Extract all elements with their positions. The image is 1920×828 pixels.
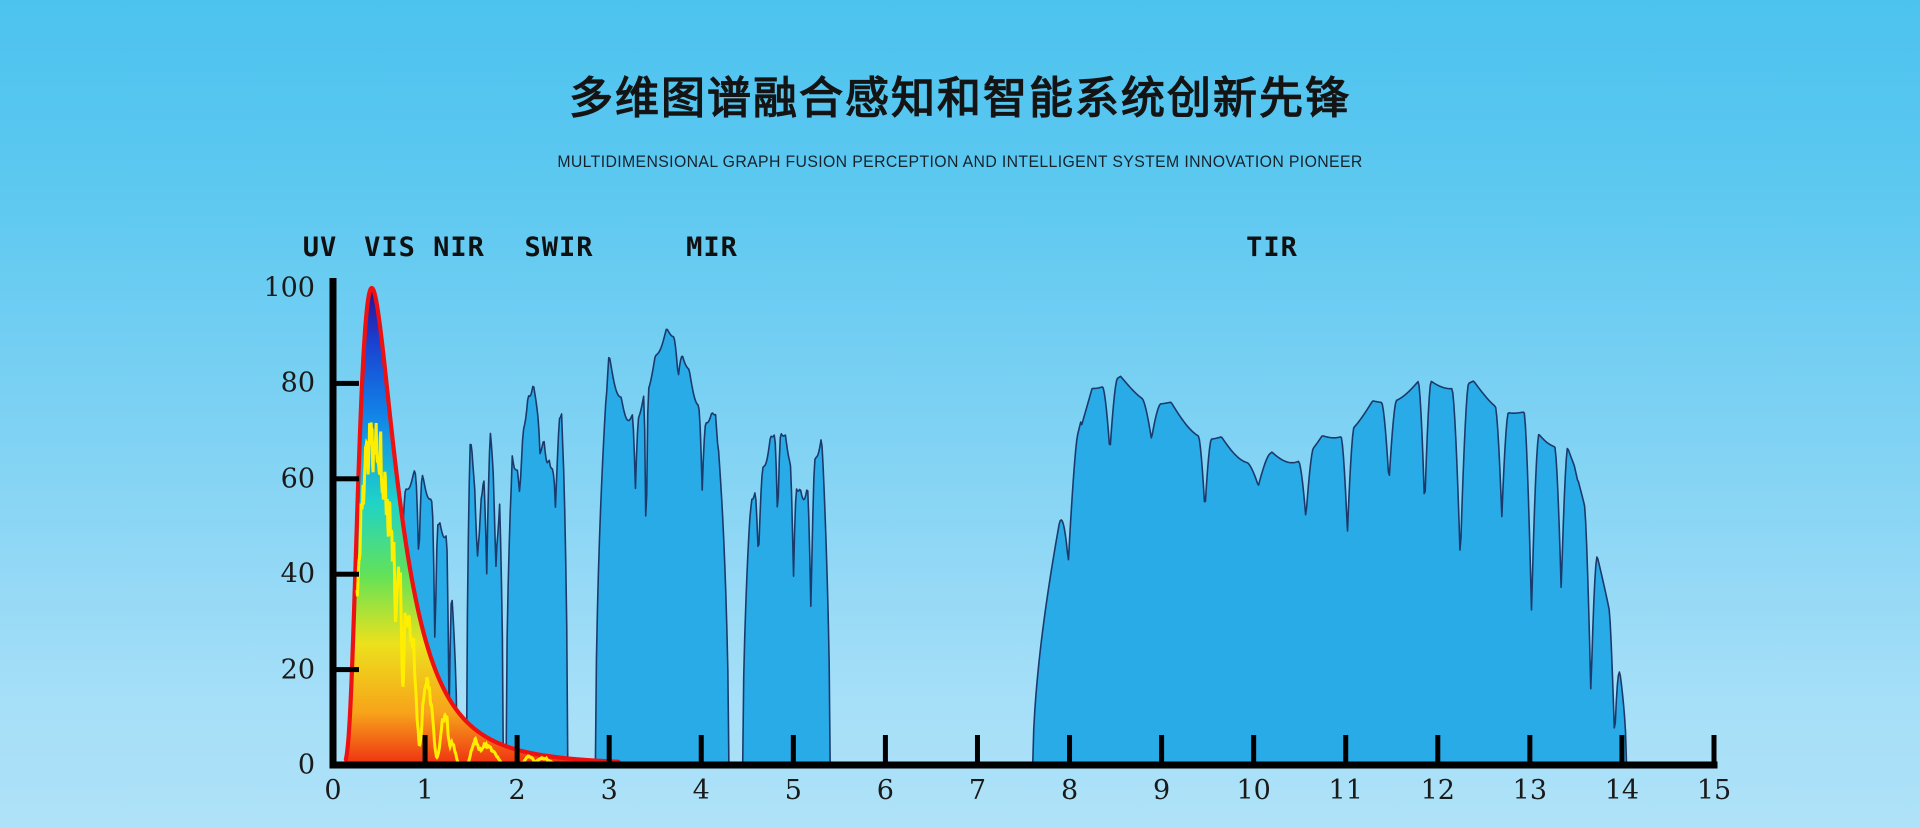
x-axis-line <box>330 762 1718 769</box>
x-tick-label: 14 <box>1605 775 1639 806</box>
transmission-window-1 <box>467 433 504 765</box>
x-axis-tick <box>1619 735 1624 765</box>
x-tick-label: 9 <box>1153 775 1170 806</box>
x-tick-label: 5 <box>785 775 802 806</box>
x-tick-label: 13 <box>1513 775 1547 806</box>
x-axis-tick <box>423 735 428 765</box>
x-tick-label: 12 <box>1421 775 1455 806</box>
x-axis-tick <box>1435 735 1440 765</box>
y-axis-tick <box>331 572 359 577</box>
x-axis-tick <box>975 735 980 765</box>
transmission-window-5 <box>1033 376 1627 765</box>
x-tick-label: 8 <box>1061 775 1078 806</box>
transmission-window-2 <box>506 386 568 765</box>
x-tick-label: 6 <box>877 775 894 806</box>
x-tick-label: 10 <box>1236 775 1270 806</box>
y-tick-label: 0 <box>255 750 315 781</box>
x-tick-label: 15 <box>1697 775 1731 806</box>
y-tick-label: 100 <box>255 273 315 304</box>
x-axis-tick <box>1712 735 1717 765</box>
atmospheric-transmission-series <box>356 329 1627 765</box>
x-tick-label: 7 <box>969 775 986 806</box>
x-axis-tick <box>699 735 704 765</box>
x-axis-tick <box>515 735 520 765</box>
x-tick-label: 3 <box>601 775 618 806</box>
x-axis-tick <box>883 735 888 765</box>
y-axis-line <box>330 278 337 769</box>
y-tick-label: 40 <box>255 559 315 590</box>
spectrum-chart <box>0 0 1920 828</box>
x-axis-tick <box>607 735 612 765</box>
x-tick-label: 4 <box>693 775 710 806</box>
y-axis-tick <box>331 667 359 672</box>
y-axis-tick <box>331 381 359 386</box>
x-axis-tick <box>1343 735 1348 765</box>
x-tick-label: 11 <box>1329 775 1363 806</box>
transmission-window-4 <box>743 434 830 765</box>
x-axis-tick <box>1159 735 1164 765</box>
y-tick-label: 80 <box>255 368 315 399</box>
transmission-window-3 <box>595 329 729 765</box>
x-tick-label: 2 <box>509 775 526 806</box>
x-tick-label: 1 <box>416 775 433 806</box>
y-axis-tick <box>331 476 359 481</box>
x-axis-tick <box>1527 735 1532 765</box>
y-tick-label: 60 <box>255 463 315 494</box>
y-tick-label: 20 <box>255 654 315 685</box>
x-axis-tick <box>1251 735 1256 765</box>
x-tick-label: 0 <box>324 775 341 806</box>
poster-canvas: 多维图谱融合感知和智能系统创新先锋 MULTIDIMENSIONAL GRAPH… <box>0 0 1920 828</box>
x-axis-tick <box>791 735 796 765</box>
x-axis-tick <box>1067 735 1072 765</box>
